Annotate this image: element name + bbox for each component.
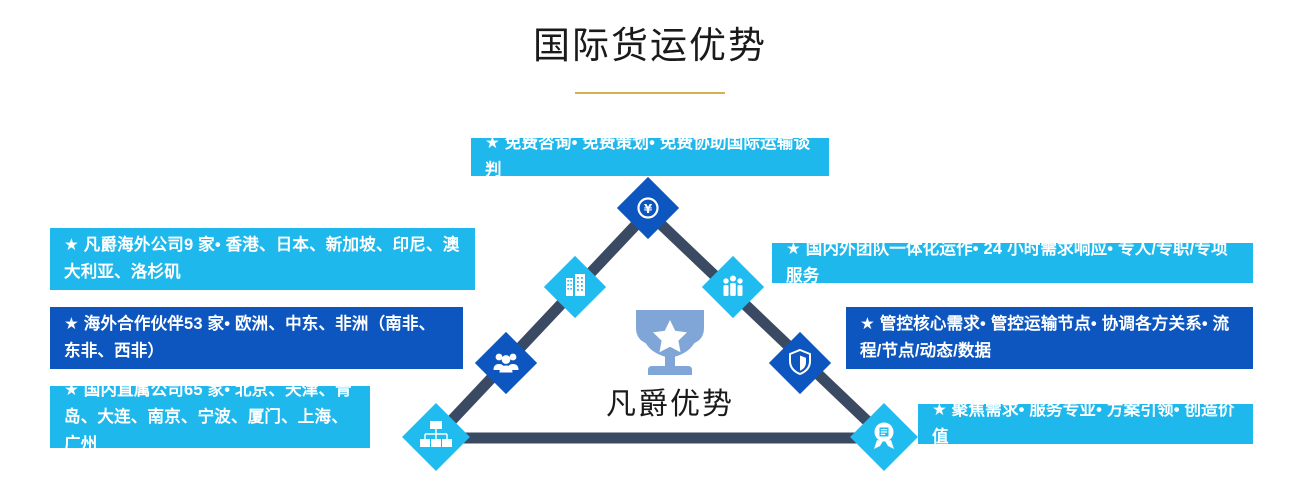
yuan-glyph: ¥	[644, 202, 653, 216]
fact-box-top-text: ★ 免费咨询• 免费策划• 免费协助国际运输谈判	[485, 130, 817, 184]
fact-box-right-2[interactable]: ★ 管控核心需求• 管控运输节点• 协调各方关系• 流程/节点/动态/数据	[846, 307, 1253, 369]
fact-box-left-3-text: ★ 国内直属公司65 家• 北京、天津、青岛、大连、南京、宁波、厦门、上海、广州	[64, 377, 358, 458]
fact-box-right-1-text: ★ 国内外团队一体化运作• 24 小时需求响应• 专人/专职/专项服务	[786, 236, 1241, 290]
team-people-icon	[723, 276, 742, 297]
fact-box-left-2-text: ★ 海外合作伙伴53 家• 欧洲、中东、非洲（南非、东非、西非）	[64, 311, 451, 365]
infographic-canvas: 国际货运优势 ¥	[0, 0, 1300, 500]
fact-box-right-2-text: ★ 管控核心需求• 管控运输节点• 协调各方关系• 流程/节点/动态/数据	[860, 311, 1241, 365]
fact-box-right-3[interactable]: ★ 聚焦需求• 服务专业• 方案引领• 创造价值	[918, 404, 1253, 444]
fact-box-right-3-text: ★ 聚焦需求• 服务专业• 方案引领• 创造价值	[932, 397, 1241, 451]
fact-box-left-1[interactable]: ★ 凡爵海外公司9 家• 香港、日本、新加坡、印尼、澳大利亚、洛杉矶	[50, 228, 475, 290]
fact-box-left-1-text: ★ 凡爵海外公司9 家• 香港、日本、新加坡、印尼、澳大利亚、洛杉矶	[64, 232, 463, 286]
fact-box-top[interactable]: ★ 免费咨询• 免费策划• 免费协助国际运输谈判	[471, 138, 829, 176]
trophy-icon	[612, 302, 728, 380]
fact-box-right-1[interactable]: ★ 国内外团队一体化运作• 24 小时需求响应• 专人/专职/专项服务	[772, 243, 1253, 283]
fact-box-left-2[interactable]: ★ 海外合作伙伴53 家• 欧洲、中东、非洲（南非、东非、西非）	[50, 307, 463, 369]
fact-box-left-3[interactable]: ★ 国内直属公司65 家• 北京、天津、青岛、大连、南京、宁波、厦门、上海、广州	[50, 386, 370, 448]
center-label: 凡爵优势	[520, 385, 820, 425]
